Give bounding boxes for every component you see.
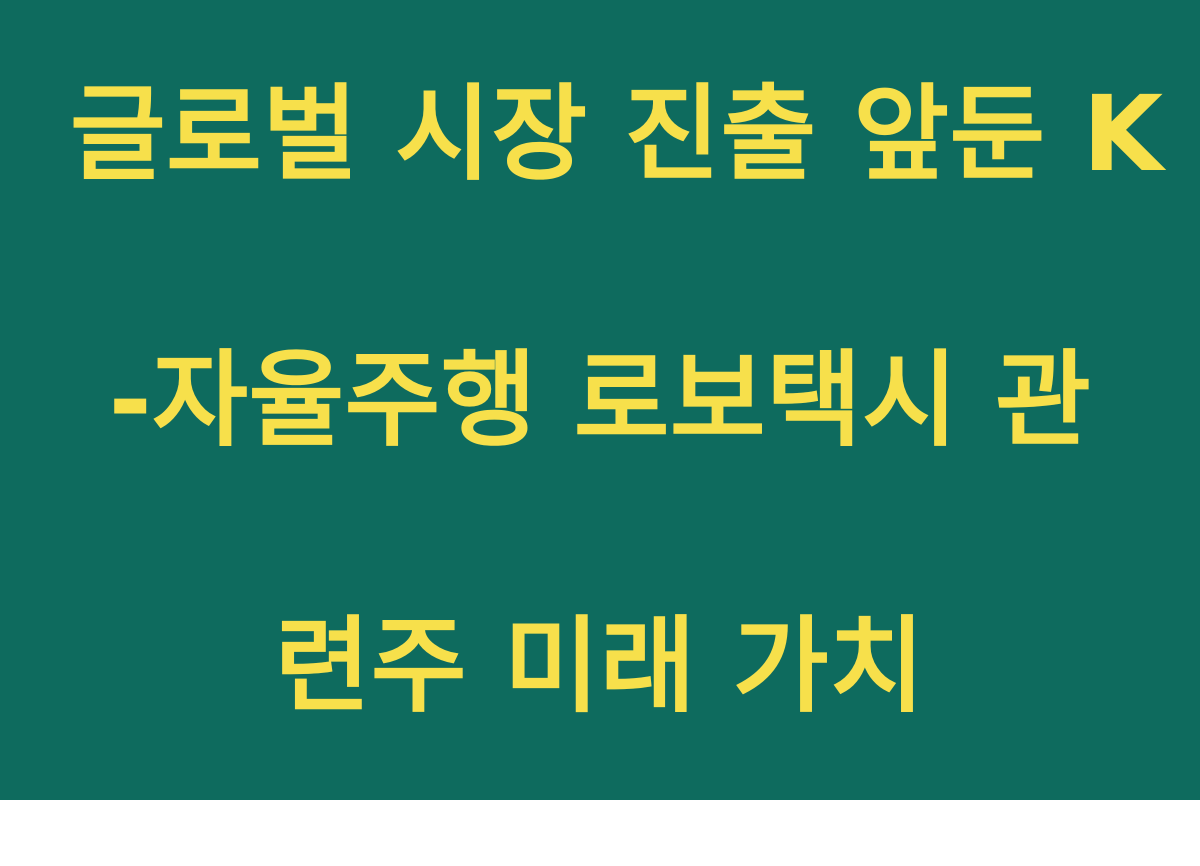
headline-line-3: 련주 미래 가치 [70,600,1130,733]
page-title: 글로벌 시장 진출 앞둔 K -자율주행 로보택시 관 련주 미래 가치 [70,0,1130,866]
headline-line-2: -자율주행 로보택시 관 [70,334,1130,467]
headline-card: 글로벌 시장 진출 앞둔 K -자율주행 로보택시 관 련주 미래 가치 [0,0,1200,800]
headline-line-1: 글로벌 시장 진출 앞둔 K [70,68,1130,201]
